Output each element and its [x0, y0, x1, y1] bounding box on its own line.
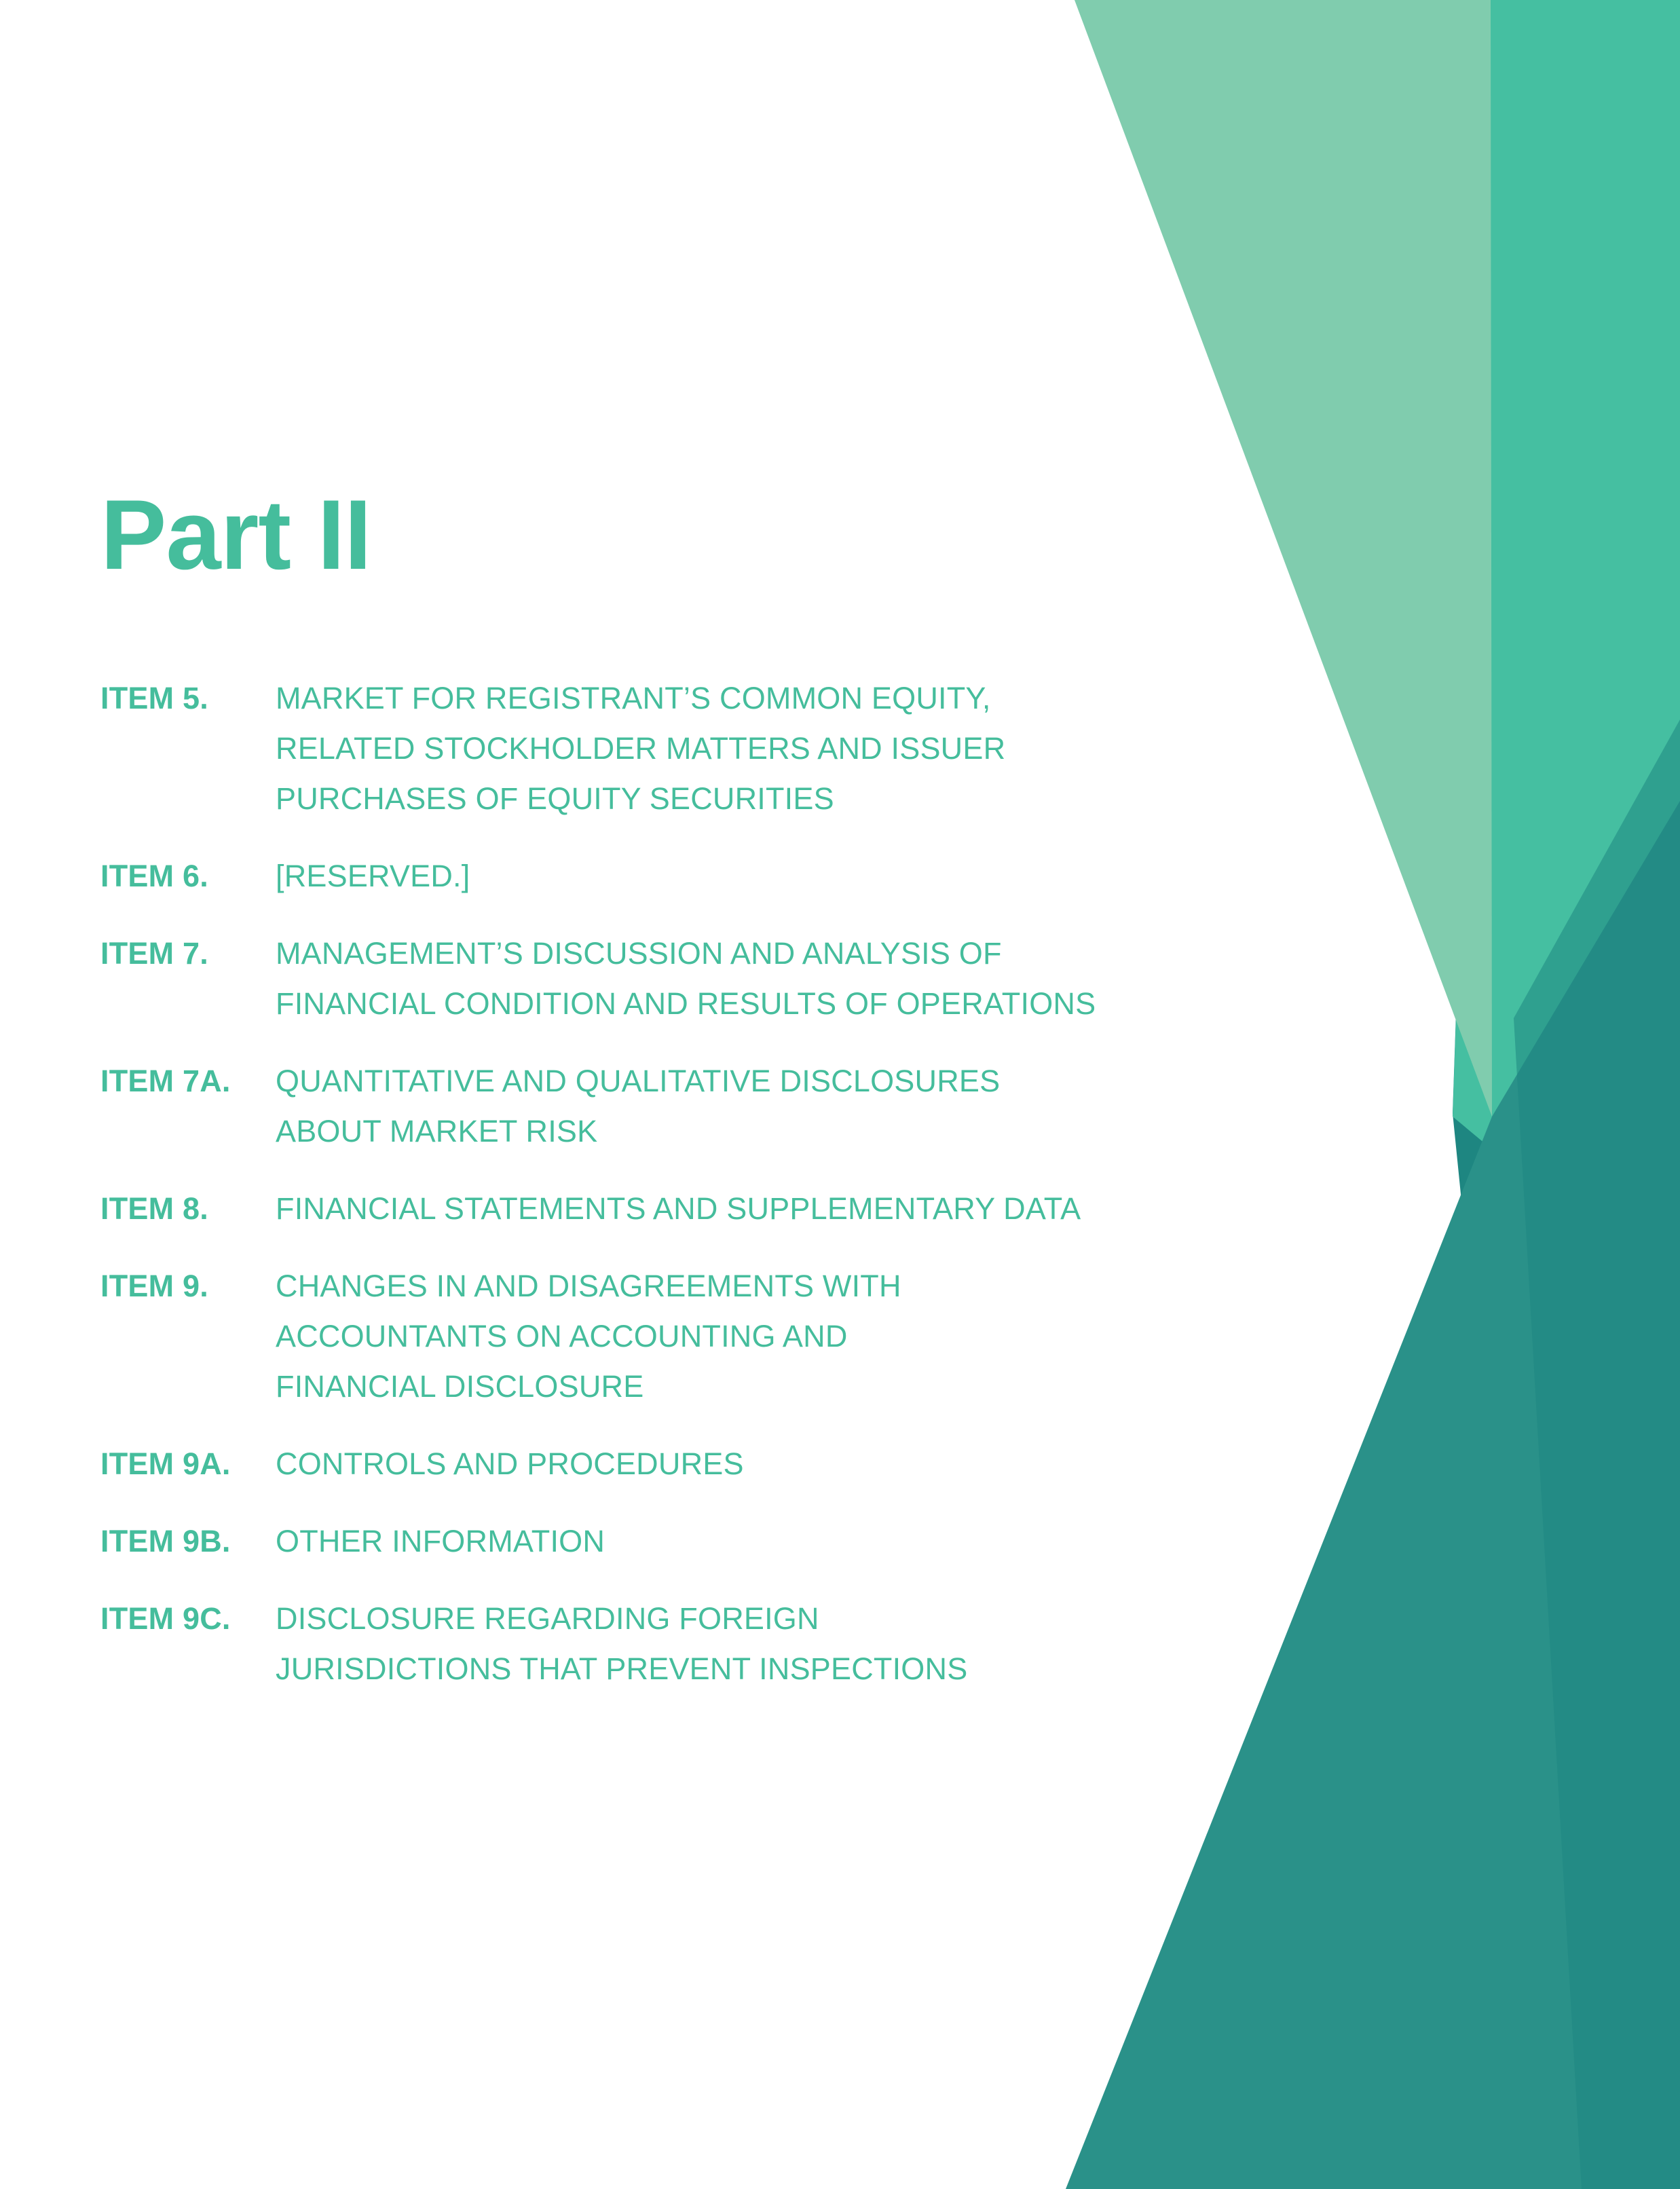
toc-item-label: ITEM 6.: [100, 851, 276, 901]
toc-item-label: ITEM 5.: [100, 673, 276, 724]
toc-line: RELATED STOCKHOLDER MATTERS AND ISSUER: [276, 724, 1322, 774]
toc-item-label: ITEM 7.: [100, 929, 276, 979]
toc-item-description: DISCLOSURE REGARDING FOREIGN JURISDICTIO…: [276, 1594, 1322, 1694]
toc-line: OTHER INFORMATION: [276, 1516, 1322, 1567]
toc-line: DISCLOSURE REGARDING FOREIGN: [276, 1594, 1322, 1644]
toc-item-9a[interactable]: ITEM 9A. CONTROLS AND PROCEDURES: [100, 1439, 1322, 1489]
toc-item-description: QUANTITATIVE AND QUALITATIVE DISCLOSURES…: [276, 1056, 1322, 1157]
toc-line: ABOUT MARKET RISK: [276, 1106, 1322, 1157]
toc-item-description: CHANGES IN AND DISAGREEMENTS WITH ACCOUN…: [276, 1261, 1322, 1412]
toc-item-label: ITEM 9B.: [100, 1516, 276, 1567]
toc-item-description: MARKET FOR REGISTRANT’S COMMON EQUITY, R…: [276, 673, 1322, 824]
toc-item-label: ITEM 9.: [100, 1261, 276, 1311]
toc-item-description: CONTROLS AND PROCEDURES: [276, 1439, 1322, 1489]
toc-item-9b[interactable]: ITEM 9B. OTHER INFORMATION: [100, 1516, 1322, 1567]
toc-line: MARKET FOR REGISTRANT’S COMMON EQUITY,: [276, 673, 1322, 724]
toc-item-8[interactable]: ITEM 8. FINANCIAL STATEMENTS AND SUPPLEM…: [100, 1184, 1322, 1234]
page-content: Part II ITEM 5. MARKET FOR REGISTRANT’S …: [0, 0, 1680, 2189]
toc-line: PURCHASES OF EQUITY SECURITIES: [276, 774, 1322, 824]
toc-line: [RESERVED.]: [276, 851, 1322, 901]
toc-line: ACCOUNTANTS ON ACCOUNTING AND: [276, 1311, 1322, 1362]
toc-item-description: MANAGEMENT’S DISCUSSION AND ANALYSIS OF …: [276, 929, 1322, 1029]
toc-line: FINANCIAL CONDITION AND RESULTS OF OPERA…: [276, 979, 1322, 1029]
toc-item-5[interactable]: ITEM 5. MARKET FOR REGISTRANT’S COMMON E…: [100, 673, 1322, 824]
toc-item-description: [RESERVED.]: [276, 851, 1322, 901]
toc-item-7a[interactable]: ITEM 7A. QUANTITATIVE AND QUALITATIVE DI…: [100, 1056, 1322, 1157]
toc-line: CONTROLS AND PROCEDURES: [276, 1439, 1322, 1489]
toc-line: JURISDICTIONS THAT PREVENT INSPECTIONS: [276, 1644, 1322, 1694]
toc-item-description: OTHER INFORMATION: [276, 1516, 1322, 1567]
toc-item-label: ITEM 9C.: [100, 1594, 276, 1644]
toc-line: FINANCIAL DISCLOSURE: [276, 1362, 1322, 1412]
toc-item-label: ITEM 7A.: [100, 1056, 276, 1106]
toc-item-9[interactable]: ITEM 9. CHANGES IN AND DISAGREEMENTS WIT…: [100, 1261, 1322, 1412]
toc-line: MANAGEMENT’S DISCUSSION AND ANALYSIS OF: [276, 929, 1322, 979]
toc-line: CHANGES IN AND DISAGREEMENTS WITH: [276, 1261, 1322, 1311]
toc-item-label: ITEM 8.: [100, 1184, 276, 1234]
toc-line: QUANTITATIVE AND QUALITATIVE DISCLOSURES: [276, 1056, 1322, 1106]
table-of-contents: ITEM 5. MARKET FOR REGISTRANT’S COMMON E…: [100, 673, 1322, 1721]
toc-item-6[interactable]: ITEM 6. [RESERVED.]: [100, 851, 1322, 901]
toc-item-9c[interactable]: ITEM 9C. DISCLOSURE REGARDING FOREIGN JU…: [100, 1594, 1322, 1694]
toc-line: FINANCIAL STATEMENTS AND SUPPLEMENTARY D…: [276, 1184, 1322, 1234]
page-title: Part II: [100, 485, 371, 584]
toc-item-7[interactable]: ITEM 7. MANAGEMENT’S DISCUSSION AND ANAL…: [100, 929, 1322, 1029]
toc-item-description: FINANCIAL STATEMENTS AND SUPPLEMENTARY D…: [276, 1184, 1322, 1234]
toc-item-label: ITEM 9A.: [100, 1439, 276, 1489]
